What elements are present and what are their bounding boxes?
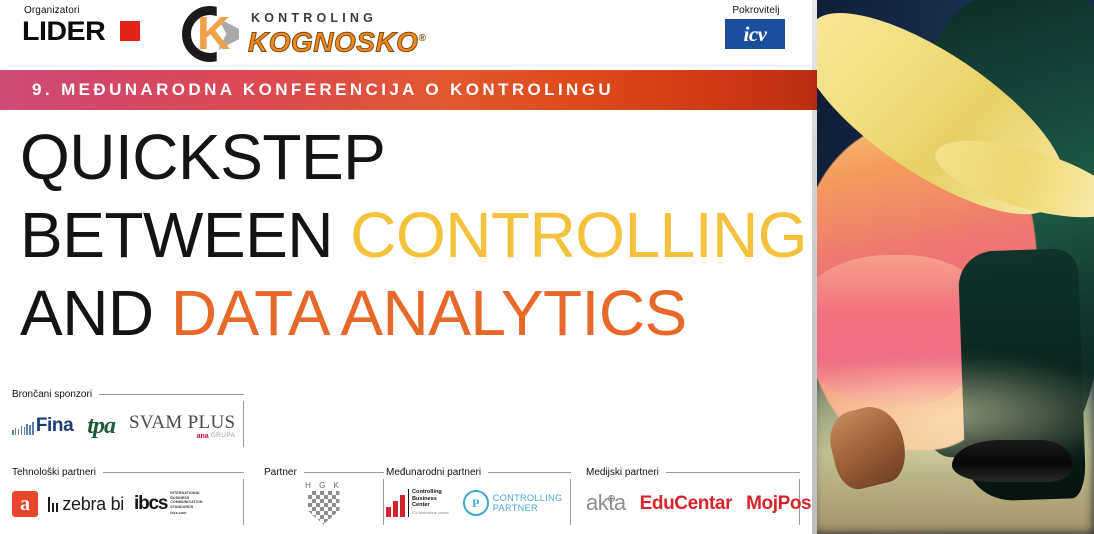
organizer-block: Organizatori LIDER bbox=[22, 5, 140, 44]
photo-mans-shoe bbox=[952, 440, 1072, 482]
headline-between: BETWEEN bbox=[20, 199, 350, 271]
media-partners-section: Medijski partneri akta EduCentar MojPosa… bbox=[586, 466, 800, 525]
akta-square-logo[interactable]: a bbox=[12, 491, 38, 517]
headline-line-1: QUICKSTEP bbox=[20, 118, 800, 196]
headline-and: AND bbox=[20, 277, 171, 349]
zebra-wordmark: zebra bi bbox=[62, 495, 124, 513]
kognosko-k-letter: K bbox=[197, 10, 230, 56]
akta-logo[interactable]: akta bbox=[586, 492, 626, 514]
ibcs-wordmark: ibcs bbox=[134, 495, 167, 513]
tech-logos: a zebra bi ibcs INTERNATIONAL BUSINESS C… bbox=[12, 479, 244, 525]
zebra-bars-icon bbox=[48, 496, 58, 512]
organizer-label: Organizatori bbox=[24, 5, 140, 16]
hgk-letters: H G K bbox=[305, 481, 342, 490]
media-logos: akta EduCentar MojPosao bbox=[586, 479, 800, 525]
controlling-partner-text: CONTROLLING PARTNER bbox=[493, 493, 563, 513]
conference-poster: Organizatori LIDER K KONTROLING KOGNOSKO… bbox=[0, 0, 1094, 534]
tech-rule bbox=[103, 472, 244, 473]
svam-ana: ana bbox=[197, 433, 209, 440]
ibcs-logo[interactable]: ibcs INTERNATIONAL BUSINESS COMMUNICATIO… bbox=[134, 491, 203, 516]
controlling-business-center-logo[interactable]: Controlling Business Center ICV internat… bbox=[386, 489, 449, 517]
tech-label: Tehnološki partneri bbox=[12, 467, 96, 478]
kognosko-logo: K KONTROLING KOGNOSKO® bbox=[182, 6, 426, 62]
hgk-logo[interactable]: H G K bbox=[305, 481, 342, 525]
media-header: Medijski partneri bbox=[586, 466, 800, 479]
patron-block: Pokrovitelj icv bbox=[725, 5, 785, 49]
lider-logo: LIDER bbox=[22, 18, 140, 44]
intl-label: Međunarodni partneri bbox=[386, 467, 481, 478]
tech-header: Tehnološki partneri bbox=[12, 466, 244, 479]
headline-line-3: AND DATA ANALYTICS bbox=[20, 274, 800, 352]
cbc-tagline: ICV international partner bbox=[412, 510, 449, 517]
svam-wordmark: SVAM PLUS bbox=[129, 413, 235, 432]
headline-block: QUICKSTEP BETWEEN CONTROLLING AND DATA A… bbox=[20, 118, 800, 352]
lider-square-icon bbox=[120, 21, 140, 41]
headline-controlling: CONTROLLING bbox=[350, 199, 807, 271]
hgk-checkerboard-shield-icon bbox=[308, 491, 340, 525]
svam-grupa: GRUPA bbox=[211, 433, 236, 440]
banner-title: 9. MEĐUNARODNA KONFERENCIJA O KONTROLING… bbox=[32, 80, 614, 100]
content-column: Organizatori LIDER K KONTROLING KOGNOSKO… bbox=[0, 0, 812, 534]
ibcs-line-4: STANDARDS bbox=[170, 505, 202, 510]
dancers-photo bbox=[812, 0, 1094, 534]
cbc-line-3: Center bbox=[412, 502, 449, 509]
controlling-partner-logo[interactable]: P CONTROLLING PARTNER bbox=[463, 490, 563, 516]
headline-line-2: BETWEEN CONTROLLING bbox=[20, 196, 800, 274]
fina-bars-icon bbox=[12, 422, 34, 435]
intl-logos: Controlling Business Center ICV internat… bbox=[386, 479, 571, 525]
tech-partners-section: Tehnološki partneri a zebra bi ibcs INTE… bbox=[12, 466, 244, 525]
photo-banner-continuation bbox=[812, 70, 817, 110]
partner-header: Partner bbox=[264, 466, 384, 479]
ibcs-url: ibcs.com bbox=[170, 511, 202, 516]
controlling-partner-circle-icon: P bbox=[463, 490, 489, 516]
intl-header: Međunarodni partneri bbox=[386, 466, 571, 479]
media-rule bbox=[666, 472, 800, 473]
intl-rule bbox=[488, 472, 571, 473]
fina-wordmark: Fina bbox=[36, 417, 73, 435]
partner-section: Partner H G K bbox=[264, 466, 384, 525]
kognosko-wordmark: KOGNOSKO® bbox=[248, 25, 426, 56]
conference-banner: 9. MEĐUNARODNA KONFERENCIJA O KONTROLING… bbox=[0, 70, 812, 110]
headline-data-analytics: DATA ANALYTICS bbox=[171, 277, 687, 349]
kognosko-mark-icon: K bbox=[182, 6, 240, 62]
bronze-label: Brončani sponzori bbox=[12, 389, 92, 400]
international-partners-section: Međunarodni partneri Controlling Busines… bbox=[386, 466, 571, 525]
akta-a-letter: a bbox=[20, 494, 30, 514]
cp-line-2: PARTNER bbox=[493, 503, 563, 513]
fina-logo[interactable]: Fina bbox=[12, 417, 73, 435]
bronze-sponsors-section: Brončani sponzori Fina tpa SVAM PLUS ana… bbox=[12, 388, 244, 447]
tpa-logo[interactable]: tpa bbox=[87, 415, 115, 437]
bronze-rule bbox=[99, 394, 244, 395]
zebra-bi-logo[interactable]: zebra bi bbox=[48, 495, 124, 513]
kognosko-text: KONTROLING KOGNOSKO® bbox=[248, 11, 426, 56]
bronze-logos: Fina tpa SVAM PLUS ana GRUPA bbox=[12, 401, 244, 447]
partner-logos: H G K bbox=[264, 479, 384, 525]
cbc-bars-icon bbox=[386, 495, 405, 517]
cbc-text: Controlling Business Center ICV internat… bbox=[408, 489, 449, 517]
kognosko-kontroling-label: KONTROLING bbox=[248, 11, 426, 25]
educentar-logo[interactable]: EduCentar bbox=[640, 494, 732, 513]
icv-logo: icv bbox=[725, 19, 785, 49]
lider-wordmark: LIDER bbox=[22, 18, 105, 44]
bronze-header: Brončani sponzori bbox=[12, 388, 244, 401]
partner-rule bbox=[304, 472, 384, 473]
partner-label: Partner bbox=[264, 467, 297, 478]
cp-line-1: CONTROLLING bbox=[493, 493, 563, 503]
svam-plus-logo[interactable]: SVAM PLUS ana GRUPA bbox=[129, 413, 235, 440]
controlling-partner-p-letter: P bbox=[472, 497, 479, 509]
svam-subtext: ana GRUPA bbox=[197, 433, 236, 440]
media-label: Medijski partneri bbox=[586, 467, 659, 478]
logo-bar: Organizatori LIDER K KONTROLING KOGNOSKO… bbox=[0, 0, 812, 68]
ibcs-subtext: INTERNATIONAL BUSINESS COMMUNICATION STA… bbox=[170, 491, 202, 516]
icv-wordmark: icv bbox=[744, 24, 767, 45]
patron-label: Pokrovitelj bbox=[727, 5, 785, 16]
